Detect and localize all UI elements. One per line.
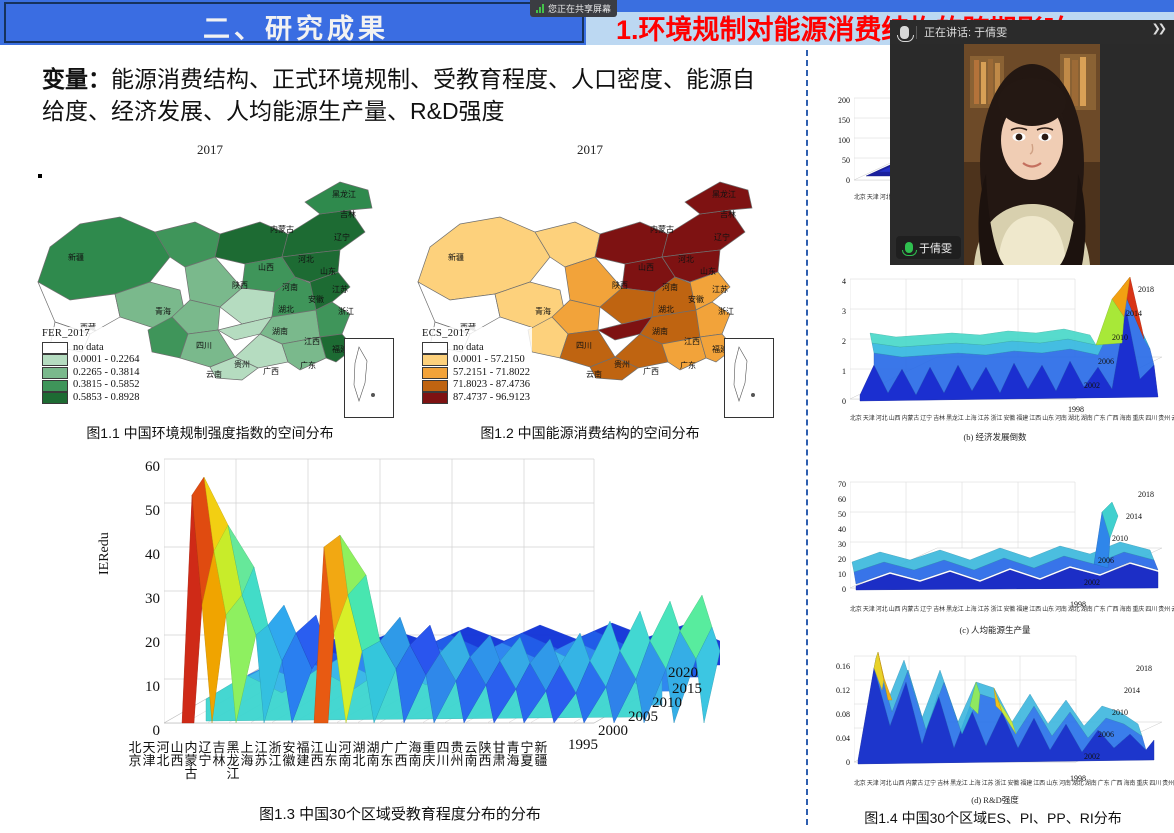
legend-label: 0.3815 - 0.5852 (73, 379, 140, 392)
video-header: 正在讲话: 于倩雯 ❯❯ (890, 20, 1174, 44)
chart-z-ticks: 0 10 20 30 40 50 60 (118, 455, 160, 745)
z-tick: 1 (820, 367, 846, 376)
variables-list: 能源消费结构、正式环境规制、受教育程度、人口密度、能源自给度、经济发展、人均能源… (42, 66, 755, 124)
year-tick: 2020 (668, 665, 698, 682)
year-tick: 2018 (1136, 664, 1152, 673)
year-tick: 2018 (1138, 285, 1154, 294)
presentation-slide: 二、研究成果 1.环境规制对能源消费结构的跨期影响 您正在共享屏幕 变量：能源消… (0, 0, 1174, 833)
fig13-caption: 图1.3 中国30个区域受教育程度分布的分布 (120, 803, 680, 824)
x-label: 福建 (296, 741, 310, 780)
legend-label: no data (73, 342, 104, 355)
screen-share-indicator: 您正在共享屏幕 (530, 0, 617, 17)
year-tick: 1998 (1070, 600, 1086, 609)
variables-label: 变量： (42, 66, 111, 92)
legend-label: 71.8023 - 87.4736 (453, 379, 530, 392)
subfigure-caption-d: (d) R&D强度 (820, 794, 1170, 806)
x-label: 云南 (464, 741, 478, 780)
participant-name: 于倩雯 (919, 240, 952, 256)
year-tick: 2010 (1112, 708, 1128, 717)
x-label: 上海 (240, 741, 254, 780)
map2-caption: 图1.2 中国能源消费结构的空间分布 (400, 423, 780, 443)
x-label: 甘肃 (492, 741, 506, 780)
svg-text:贵州: 贵州 (234, 359, 250, 369)
x-label: 贵州 (450, 741, 464, 780)
x-axis-province-strip: 北京 天津 河北 山西 内蒙古 辽宁 吉林 黑龙江 上海 江苏 浙江 安徽 福建… (850, 413, 1174, 422)
z-tick: 70 (820, 480, 846, 489)
legend-row: no data (422, 342, 530, 355)
svg-text:四川: 四川 (196, 341, 212, 350)
z-tick: 3 (820, 307, 846, 316)
surface-chart-fig14d: 0.16 0.12 0.08 0.04 0 (820, 648, 1170, 818)
svg-text:广东: 广东 (680, 360, 696, 370)
svg-text:青海: 青海 (155, 306, 171, 316)
chart-z-axis-label: IERedu (97, 532, 113, 575)
x-label: 四川 (436, 741, 450, 780)
svg-text:辽宁: 辽宁 (714, 232, 730, 242)
year-tick: 2000 (598, 723, 628, 740)
svg-text:内蒙古: 内蒙古 (650, 224, 674, 234)
svg-text:山东: 山东 (320, 266, 336, 276)
year-tick: 1998 (1068, 405, 1084, 414)
x-label: 北京 (128, 741, 142, 780)
legend-row: 0.0001 - 57.2150 (422, 354, 530, 367)
year-tick: 2014 (1126, 512, 1142, 521)
z-tick: 10 (145, 679, 160, 696)
svg-text:新疆: 新疆 (448, 252, 464, 262)
svg-text:广西: 广西 (643, 366, 659, 376)
legend-swatch (422, 354, 448, 366)
year-tick: 2014 (1126, 309, 1142, 318)
map2-legend-title: ECS_2017 (422, 328, 530, 341)
svg-text:安徽: 安徽 (308, 294, 324, 304)
svg-text:安徽: 安徽 (688, 294, 704, 304)
legend-swatch (42, 367, 68, 379)
z-tick: 0 (820, 758, 850, 767)
legend-swatch (422, 380, 448, 392)
z-tick: 200 (820, 96, 850, 105)
chart-x-axis-labels: 北京 天津 河北 山西 内蒙古 辽宁 吉林 黑龙江 上海 江苏 浙江 安徽 福建… (128, 741, 548, 780)
svg-text:江西: 江西 (304, 337, 320, 346)
legend-swatch (42, 392, 68, 404)
svg-text:湖南: 湖南 (272, 326, 288, 336)
legend-row: no data (42, 342, 140, 355)
legend-swatch (42, 342, 68, 354)
x-label: 新疆 (534, 741, 548, 780)
legend-swatch (42, 380, 68, 392)
z-tick: 100 (820, 136, 850, 145)
year-tick: 2010 (1112, 534, 1128, 543)
svg-text:河南: 河南 (282, 282, 298, 292)
speaking-label: 正在讲话: 于倩雯 (924, 24, 1007, 40)
microphone-active-icon (905, 242, 913, 253)
svg-text:陕西: 陕西 (232, 280, 248, 290)
divider (916, 26, 917, 39)
variables-paragraph: 变量：能源消费结构、正式环境规制、受教育程度、人口密度、能源自给度、经济发展、人… (42, 63, 772, 127)
z-tick: 30 (820, 540, 846, 549)
z-tick: 50 (820, 510, 846, 519)
fig14-caption: 图1.4 中国30个区域ES、PI、PP、RI分布 (812, 808, 1174, 828)
map2-inset (724, 338, 774, 418)
map1-inset (344, 338, 394, 418)
x-label: 海南 (408, 741, 422, 780)
z-tick: 0 (820, 176, 850, 185)
svg-text:江西: 江西 (684, 337, 700, 346)
x-label: 广西 (394, 741, 408, 780)
x-label: 天津 (142, 741, 156, 780)
x-label: 内蒙古 (184, 741, 198, 780)
svg-text:新疆: 新疆 (68, 252, 84, 262)
svg-text:江苏: 江苏 (712, 284, 728, 294)
z-tick: 0 (820, 585, 846, 594)
year-tick: 2006 (1098, 357, 1114, 366)
x-label: 陕西 (478, 741, 492, 780)
z-tick: 60 (820, 495, 846, 504)
svg-text:河北: 河北 (678, 254, 694, 264)
z-tick: 10 (820, 570, 846, 579)
legend-row: 57.2151 - 71.8022 (422, 367, 530, 380)
z-tick: 4 (820, 277, 846, 286)
signal-bars-icon (536, 4, 544, 13)
legend-label: 57.2151 - 71.8022 (453, 367, 530, 380)
svg-text:四川: 四川 (576, 341, 592, 350)
x-label: 河北 (156, 741, 170, 780)
z-tick: 0.08 (820, 710, 850, 719)
legend-label: 0.0001 - 0.2264 (73, 354, 140, 367)
x-label: 黑龙江 (226, 741, 240, 780)
x-label: 湖北 (352, 741, 366, 780)
legend-swatch (422, 367, 448, 379)
map-figure-2: 2017 (400, 140, 780, 440)
pane-divider (806, 50, 808, 825)
svg-text:吉林: 吉林 (720, 209, 736, 219)
z-tick: 0.04 (820, 734, 850, 743)
svg-text:青海: 青海 (535, 306, 551, 316)
participant-video-feed[interactable] (964, 44, 1100, 265)
svg-text:广东: 广东 (300, 360, 316, 370)
x-label: 河南 (338, 741, 352, 780)
surface-chart-fig14c: 70 60 50 40 30 20 10 0 (820, 476, 1170, 656)
participant-name-badge: 于倩雯 (896, 236, 961, 259)
legend-label: 0.0001 - 57.2150 (453, 354, 525, 367)
z-tick: 30 (145, 591, 160, 608)
z-tick: 40 (820, 525, 846, 534)
z-tick: 0 (153, 723, 161, 740)
map1-year: 2017 (20, 142, 400, 158)
year-tick: 2002 (1084, 752, 1100, 761)
legend-row: 0.2265 - 0.3814 (42, 367, 140, 380)
x-label: 吉林 (212, 741, 226, 780)
map2-legend: ECS_2017 no data 0.0001 - 57.2150 57.215… (420, 327, 532, 406)
svg-text:湖北: 湖北 (278, 305, 294, 314)
year-tick: 2010 (1112, 333, 1128, 342)
x-label: 广东 (380, 741, 394, 780)
z-tick: 50 (145, 503, 160, 520)
z-tick: 20 (145, 635, 160, 652)
z-tick: 60 (145, 459, 160, 476)
year-tick: 2006 (1098, 556, 1114, 565)
legend-row: 0.3815 - 0.5852 (42, 379, 140, 392)
svg-text:黑龙江: 黑龙江 (712, 189, 736, 199)
svg-text:山西: 山西 (638, 262, 654, 272)
svg-text:辽宁: 辽宁 (334, 232, 350, 242)
chevron-right-icon[interactable]: ❯❯ (1152, 22, 1164, 35)
map1-legend-title: FER_2017 (42, 328, 140, 341)
z-tick: 0 (820, 397, 846, 406)
section-title-box: 二、研究成果 (4, 2, 584, 43)
legend-row: 0.0001 - 0.2264 (42, 354, 140, 367)
map1-caption: 图1.1 中国环境规制强度指数的空间分布 (20, 423, 400, 443)
x-label: 江苏 (254, 741, 268, 780)
svg-text:云南: 云南 (586, 369, 602, 379)
year-tick: 2002 (1084, 381, 1100, 390)
legend-label: 87.4737 - 96.9123 (453, 392, 530, 405)
share-notice-label: 您正在共享屏幕 (548, 2, 611, 15)
year-tick: 2015 (672, 681, 702, 698)
svg-text:内蒙古: 内蒙古 (270, 224, 294, 234)
svg-text:广西: 广西 (263, 366, 279, 376)
svg-text:山东: 山东 (700, 266, 716, 276)
svg-text:贵州: 贵州 (614, 359, 630, 369)
x-label: 山东 (324, 741, 338, 780)
year-tick: 2018 (1138, 490, 1154, 499)
page-title: 二、研究成果 (6, 7, 586, 46)
svg-text:河北: 河北 (298, 254, 314, 264)
x-label: 宁夏 (520, 741, 534, 780)
z-tick: 0.16 (820, 662, 850, 671)
z-tick: 40 (145, 547, 160, 564)
x-label: 安徽 (282, 741, 296, 780)
year-tick: 2014 (1124, 686, 1140, 695)
svg-text:湖北: 湖北 (658, 305, 674, 314)
surface-plot-canvas (850, 269, 1162, 415)
year-tick: 1998 (1070, 774, 1086, 783)
legend-row: 0.5853 - 0.8928 (42, 392, 140, 405)
legend-swatch (42, 354, 68, 366)
svg-text:山西: 山西 (258, 262, 274, 272)
svg-text:云南: 云南 (206, 369, 222, 379)
x-label: 山西 (170, 741, 184, 780)
legend-label: 0.2265 - 0.3814 (73, 367, 140, 380)
svg-text:吉林: 吉林 (340, 209, 356, 219)
video-overlay-panel[interactable]: 正在讲话: 于倩雯 ❯❯ (890, 20, 1174, 265)
x-label: 江西 (310, 741, 324, 780)
map1-legend: FER_2017 no data 0.0001 - 0.2264 0.2265 … (40, 327, 142, 406)
legend-label: no data (453, 342, 484, 355)
map-figure-1: 2017 (20, 140, 400, 440)
x-label: 重庆 (422, 741, 436, 780)
svg-text:黑龙江: 黑龙江 (332, 189, 356, 199)
year-tick: 1995 (568, 737, 598, 754)
z-tick: 50 (820, 156, 850, 165)
x-axis-province-strip: 北京 天津 河北 山西 内蒙古 辽宁 吉林 黑龙江 上海 江苏 浙江 安徽 福建… (854, 778, 1174, 787)
svg-text:江苏: 江苏 (332, 284, 348, 294)
legend-row: 87.4737 - 96.9123 (422, 392, 530, 405)
map2-year: 2017 (400, 142, 780, 158)
x-label: 湖南 (366, 741, 380, 780)
legend-row: 71.8023 - 87.4736 (422, 379, 530, 392)
z-tick: 2 (820, 337, 846, 346)
microphone-icon (900, 26, 909, 39)
x-label: 浙江 (268, 741, 282, 780)
surface-chart-fig14b: 4 3 2 1 0 (820, 263, 1170, 453)
z-tick: 20 (820, 555, 846, 564)
svg-text:浙江: 浙江 (718, 306, 734, 316)
x-axis-province-strip: 北京 天津 河北 山西 内蒙古 辽宁 吉林 黑龙江 上海 江苏 浙江 安徽 福建… (850, 604, 1174, 613)
svg-text:浙江: 浙江 (338, 306, 354, 316)
year-tick: 2002 (1084, 578, 1100, 587)
svg-text:河南: 河南 (662, 282, 678, 292)
z-tick: 0.12 (820, 686, 850, 695)
legend-swatch (422, 342, 448, 354)
svg-text:湖南: 湖南 (652, 326, 668, 336)
surface-chart-fig13: IERedu 0 10 20 30 40 50 60 (100, 455, 720, 785)
legend-swatch (422, 392, 448, 404)
subfigure-caption-b: (b) 经济发展倒数 (820, 431, 1170, 443)
subfigure-caption-c: (c) 人均能源生产量 (820, 624, 1170, 636)
svg-text:陕西: 陕西 (612, 280, 628, 290)
x-label: 辽宁 (198, 741, 212, 780)
x-label: 青海 (506, 741, 520, 780)
z-tick: 150 (820, 116, 850, 125)
year-tick: 2006 (1098, 730, 1114, 739)
legend-label: 0.5853 - 0.8928 (73, 392, 140, 405)
